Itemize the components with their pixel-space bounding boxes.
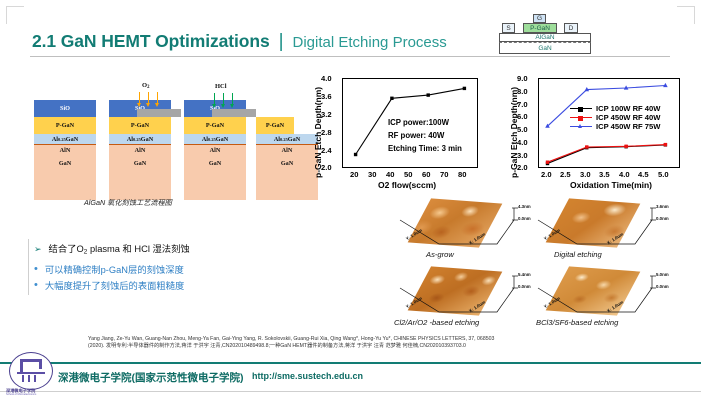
arrow-bullet-icon: ➢ — [34, 243, 42, 256]
algan-suffix: GaN — [288, 136, 300, 143]
afm-z-min: 0.0nm — [656, 216, 669, 221]
chart1-xtick-80: 80 — [458, 170, 466, 179]
chart2-xtick-3.5: 3.5 — [599, 170, 610, 179]
layer-pgan: P-GaN — [256, 117, 294, 134]
chart2-legend: ICP 100W RF 40W ICP 450W RF 40W ICP 450W… — [570, 104, 660, 131]
afm-digital-etching: 3.6nm 0.0nm Y: 1.0um X: 1.0um Digital et… — [530, 198, 680, 260]
layer-aln: AlN — [184, 145, 246, 156]
gas-o2-subscript: 2 — [147, 85, 149, 90]
chart2-xtick-3.0: 3.0 — [580, 170, 591, 179]
legend-line-2 — [570, 126, 592, 127]
process-flow-caption: AlGaN 氧化刻蚀工艺流程图 — [84, 198, 172, 208]
gas-hcl-text: HCl — [215, 83, 227, 90]
chart2-ytick-2.0: 2.0 — [517, 163, 528, 172]
afm-z-max: 5.4nm — [518, 272, 531, 277]
chart2-xtick-4.5: 4.5 — [638, 170, 649, 179]
chart2-ytick-3.0: 3.0 — [517, 151, 528, 160]
afm-z-max: 3.6nm — [656, 204, 669, 209]
dot-bullet-icon: • — [34, 279, 38, 292]
afm-z-max: 4.3nm — [518, 204, 531, 209]
layer-gan: GaN — [34, 156, 96, 200]
chart1-annotation-icp: ICP power:100W — [388, 118, 449, 127]
slide-title: 2.1 GaN HEMT Optimizations | Digital Etc… — [32, 31, 447, 53]
chart1-ytick-3.2: 3.2 — [321, 110, 332, 119]
school-logo: 深港微电子学院 School of Microelectronics — [6, 352, 56, 396]
hemt-pgan-layer: P-GaN — [523, 23, 557, 33]
legend-marker-0 — [578, 107, 583, 112]
chart1-ytick-4.0: 4.0 — [321, 74, 332, 83]
layer-aln: AlN — [109, 145, 171, 156]
chart2-ytick-9.0: 9.0 — [517, 74, 528, 83]
legend-line-0 — [570, 108, 592, 109]
legend-marker-2 — [578, 124, 582, 128]
legend-label-1: ICP 450W RF 40W — [596, 113, 660, 122]
layer-algan: Al0.25GaN — [34, 134, 96, 145]
chart2-xtick-2.5: 2.5 — [560, 170, 571, 179]
bullet-item-0: • 可以精确控制p-GaN层的刻蚀深度 — [34, 263, 274, 277]
layer-gan: GaN — [184, 156, 246, 200]
layer-sio: SiO — [34, 100, 96, 117]
legend-label-2: ICP 450W RF 75W — [596, 122, 660, 131]
hemt-source-contact: S — [502, 23, 515, 33]
hemt-algan-layer: AlGaN — [499, 33, 591, 42]
logo-circle — [9, 352, 53, 390]
logo-mark — [28, 375, 30, 382]
reference-block: Yang Jiang, Ze-Yu Wan, Guang-Nan Zhou, M… — [88, 336, 688, 350]
chart2-xtick-4.0: 4.0 — [619, 170, 630, 179]
gas-label-o2: O2 — [142, 82, 149, 90]
chart2-ytick-8.0: 8.0 — [517, 87, 528, 96]
reference-line-2: (2020). 发明专利:半导体器件的制作方法,蒋洋 于洪宇 汪青,CN2020… — [88, 343, 688, 350]
frame-mark-top-right — [677, 6, 695, 7]
legend-item-2: ICP 450W RF 75W — [570, 122, 660, 131]
algan-suffix: GaN — [216, 136, 228, 143]
layer-gan: GaN — [109, 156, 171, 200]
afm-as-grow: 4.3nm 0.0nm Y: 1.0um X: 1.0um As-grow — [392, 198, 532, 260]
layer-pgan: P-GaN — [109, 117, 171, 134]
afm-z-max: 5.0nm — [656, 272, 669, 277]
layer-pgan: P-GaN — [184, 117, 246, 134]
logo-mark — [22, 375, 24, 382]
chart1-annotation-rf: RF power: 40W — [388, 131, 444, 140]
chart1-xtick-70: 70 — [440, 170, 448, 179]
layer-aln: AlN — [34, 145, 96, 156]
footer-url[interactable]: http://sme.sustech.edu.cn — [252, 371, 363, 381]
algan-subscript: 0.25 — [58, 137, 66, 142]
layer-algan: Al0.25GaN — [109, 134, 171, 145]
chart1-xtick-30: 30 — [368, 170, 376, 179]
chart1-ytick-2.8: 2.8 — [321, 128, 332, 137]
layer-algan: Al0.25GaN — [184, 134, 246, 145]
legend-label-0: ICP 100W RF 40W — [596, 104, 660, 113]
chart2-xtick-2.0: 2.0 — [541, 170, 552, 179]
frame-mark-top-right-v — [694, 6, 695, 24]
chart1-xtick-20: 20 — [350, 170, 358, 179]
footer-divider-bottom — [0, 391, 701, 392]
chart1-xtick-60: 60 — [422, 170, 430, 179]
chart1-ytick-3.6: 3.6 — [321, 92, 332, 101]
algan-suffix: GaN — [66, 136, 78, 143]
chart1-xtick-40: 40 — [386, 170, 394, 179]
bullet-item-text: 可以精确控制p-GaN层的刻蚀深度 — [45, 263, 184, 277]
process-step-1: SiO P-GaN Al0.25GaN AlN GaN — [34, 100, 96, 200]
hemt-gate-contact: G — [533, 14, 546, 23]
title-subtitle: Digital Etching Process — [293, 34, 447, 51]
chart1-annotation-time: Etching Time: 3 min — [388, 144, 462, 153]
afm-caption: BCl3/SF6-based etching — [536, 318, 618, 327]
hemt-gan-layer: GaN — [499, 42, 591, 54]
chart1-ytick-2.4: 2.4 — [321, 146, 332, 155]
algan-subscript: 0.25 — [280, 137, 288, 142]
gas-label-hcl: HCl — [215, 83, 227, 90]
footer-institution: 深港微电子学院(国家示范性微电子学院) — [58, 370, 244, 385]
algan-suffix: GaN — [141, 136, 153, 143]
algan-subscript: 0.25 — [133, 137, 141, 142]
chart2-ytick-7.0: 7.0 — [517, 100, 528, 109]
bullet-headline: ➢ 结合了O2 plasma 和 HCl 湿法刻蚀 — [34, 243, 274, 258]
afm-z-min: 0.0nm — [518, 284, 531, 289]
footer-divider — [0, 362, 701, 364]
chart1-ytick-2.0: 2.0 — [321, 163, 332, 172]
afm-cl2-ar-o2: 5.4nm 0.0nm Y: 1.0um X: 1.0um Cl2/Ar/O2 … — [392, 266, 532, 328]
process-step-3: SiO P-GaN Al0.25GaN AlN GaN — [184, 100, 246, 200]
bullet-list: ➢ 结合了O2 plasma 和 HCl 湿法刻蚀 • 可以精确控制p-GaN层… — [34, 243, 274, 295]
chart-o2-flow: p-GaN Etch Depth(nm) 4.0 3.6 3.2 2.8 2.4… — [302, 74, 492, 194]
logo-mark — [39, 359, 42, 369]
logo-caption-en: School of Microelectronics — [6, 393, 36, 396]
chart2-ytick-5.0: 5.0 — [517, 125, 528, 134]
page-title: 2.1 GaN HEMT Optimizations — [32, 31, 270, 52]
slide-root: 2.1 GaN HEMT Optimizations | Digital Etc… — [0, 0, 701, 403]
chart1-xtick-50: 50 — [404, 170, 412, 179]
chart2-xtick-5.0: 5.0 — [658, 170, 669, 179]
chart2-x-axis-label: Oxidation Time(min) — [570, 180, 652, 190]
hemt-device-diagram: G S D P-GaN AlGaN GaN — [498, 14, 608, 66]
layer-pgan: P-GaN — [34, 117, 96, 134]
dot-bullet-icon: • — [34, 263, 38, 276]
oxidation-mask — [137, 109, 181, 117]
logo-mark — [34, 375, 36, 382]
chart2-ytick-6.0: 6.0 — [517, 112, 528, 121]
chart-oxidation-time: p-GaN Etch Depth(nm) 9.0 8.0 7.0 6.0 5.0… — [498, 74, 694, 194]
headline-pre: 结合了O — [49, 244, 84, 254]
legend-item-0: ICP 100W RF 40W — [570, 104, 660, 113]
bullet-item-1: • 大幅度提升了刻蚀后的表面粗糙度 — [34, 279, 274, 293]
afm-caption: As-grow — [426, 250, 454, 259]
bullet-item-text: 大幅度提升了刻蚀后的表面粗糙度 — [45, 279, 184, 293]
chart1-x-axis-label: O2 flow(sccm) — [378, 180, 436, 190]
legend-item-1: ICP 450W RF 40W — [570, 113, 660, 122]
etch-mask — [212, 109, 256, 117]
process-flow-stacks: SiO P-GaN Al0.25GaN AlN GaN SiO P-GaN Al… — [34, 82, 334, 194]
frame-mark-top-left-v — [6, 6, 7, 24]
algan-subscript: 0.25 — [208, 137, 216, 142]
afm-caption: Cl2/Ar/O2 -based etching — [394, 318, 479, 327]
afm-caption: Digital etching — [554, 250, 602, 259]
legend-marker-1 — [578, 116, 583, 121]
bullet-headline-text: 结合了O2 plasma 和 HCl 湿法刻蚀 — [49, 243, 190, 258]
process-step-2: SiO P-GaN Al0.25GaN AlN GaN — [109, 100, 171, 200]
afm-axes-svg — [392, 198, 532, 260]
frame-mark-top-left — [6, 6, 24, 7]
title-separator: | — [279, 31, 284, 53]
afm-bcl3-sf6: 5.0nm 0.0nm Y: 1.0um X: 1.0um BCl3/SF6-b… — [530, 266, 680, 328]
legend-line-1 — [570, 117, 592, 118]
afm-z-min: 0.0nm — [518, 216, 531, 221]
headline-post: plasma 和 HCl 湿法刻蚀 — [87, 244, 189, 254]
hemt-drain-contact: D — [564, 23, 578, 33]
chart2-ytick-4.0: 4.0 — [517, 138, 528, 147]
afm-z-min: 0.0nm — [656, 284, 669, 289]
